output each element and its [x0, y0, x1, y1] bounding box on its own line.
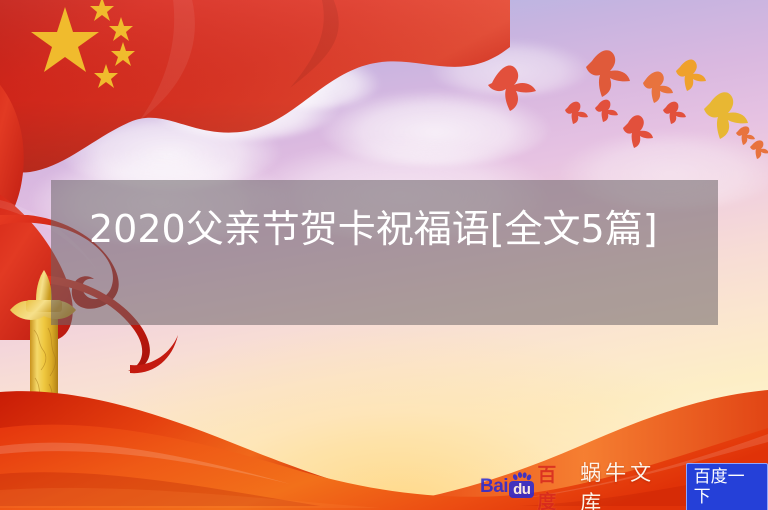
page-title: 2020父亲节贺卡祝福语[全文5篇] — [51, 180, 718, 325]
baidu-search-button[interactable]: 百度一下 — [686, 463, 768, 510]
baidu-logo-du: du — [509, 481, 534, 498]
baidu-logo[interactable]: Bai du 百度 — [480, 460, 572, 510]
paw-print-icon — [512, 472, 532, 484]
cover-image-canvas: 2020父亲节贺卡祝福语[全文5篇] Bai du 百度 蜗牛文库 百度一下 — [0, 0, 768, 510]
watermark-bar: Bai du 百度 蜗牛文库 百度一下 — [480, 471, 768, 503]
flying-doves-icon — [480, 45, 768, 160]
baidu-logo-chinese: 百度 — [537, 460, 572, 510]
baidu-logo-bai: Bai — [480, 476, 508, 498]
site-name-watermark: 蜗牛文库 — [580, 457, 678, 510]
